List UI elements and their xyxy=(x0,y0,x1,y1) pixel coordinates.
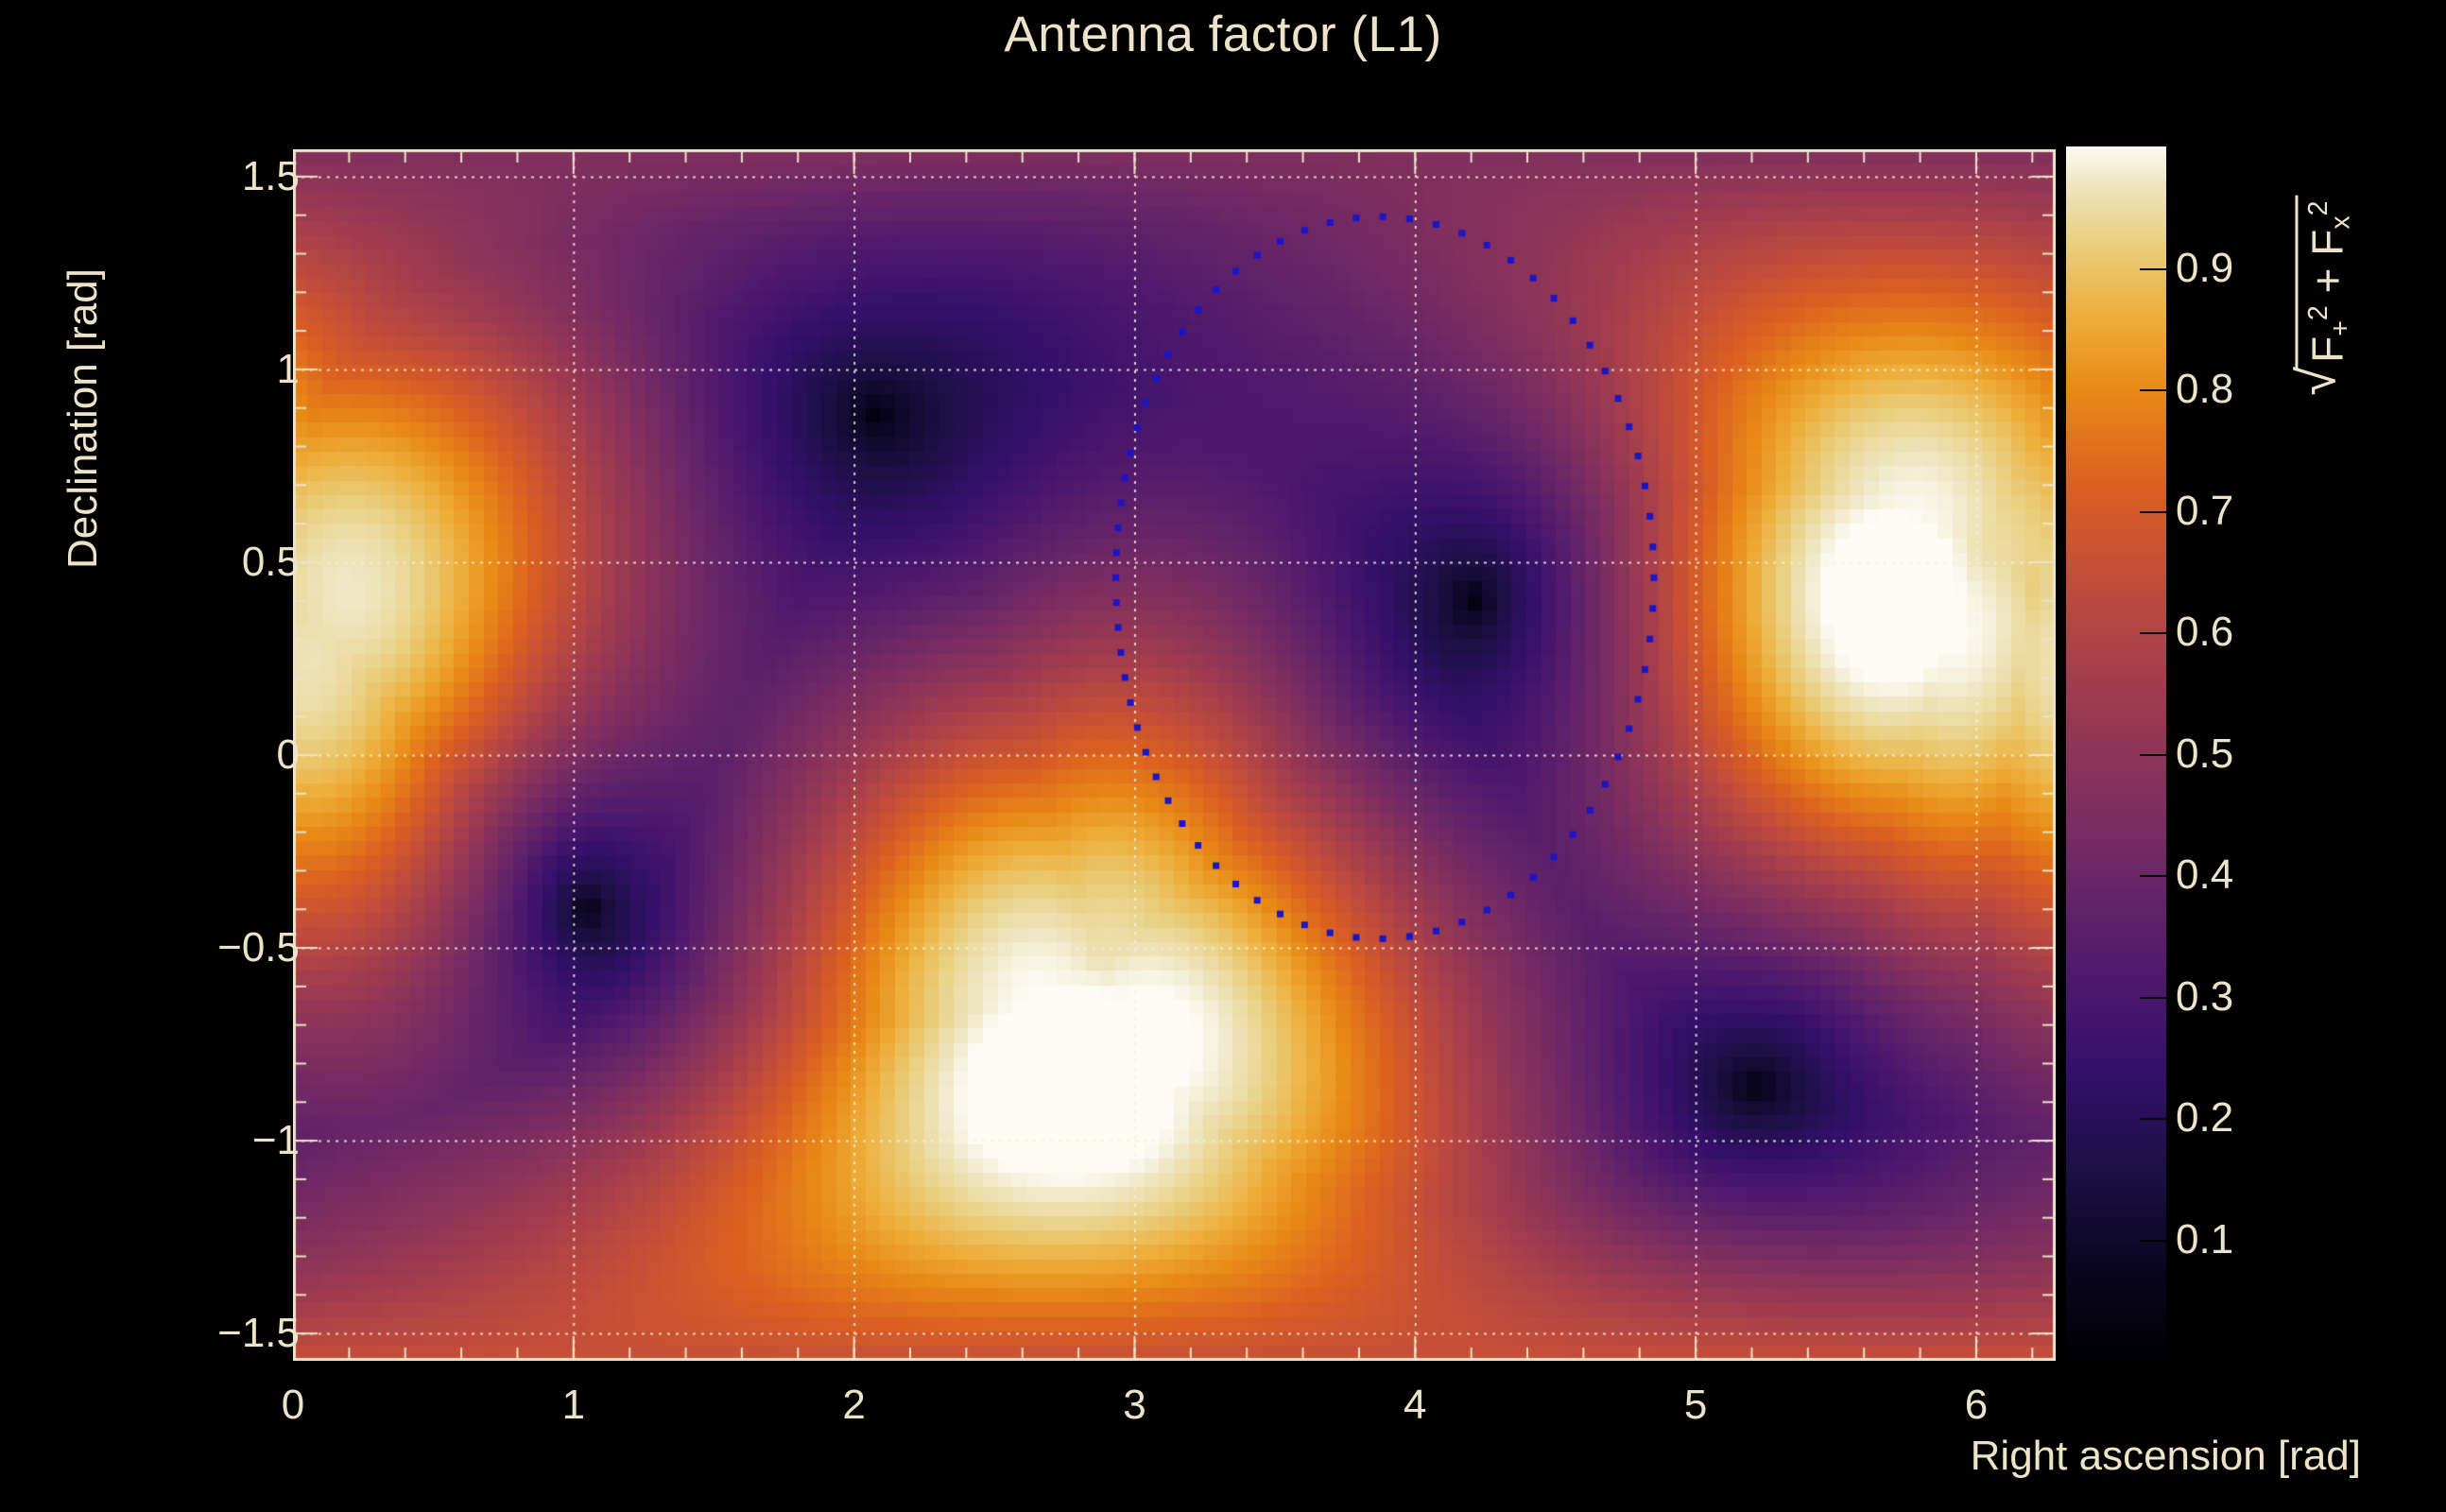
colorbar[interactable] xyxy=(2066,146,2166,1361)
zlabel-term1-sup: 2 xyxy=(2303,305,2334,320)
y-axis-title-label: Declination [rad] xyxy=(60,268,107,569)
page-title: Antenna factor (L1) xyxy=(0,6,2446,63)
colorbar-tick-label-5: 0.6 xyxy=(2176,609,2233,656)
colorbar-tick-label-0: 0.1 xyxy=(2176,1216,2233,1263)
x-axis-tick-3: 3 xyxy=(1123,1382,1145,1429)
y-axis-tick-2: 0.5 xyxy=(82,539,300,586)
y-axis-tick-1: 1 xyxy=(82,346,300,393)
zlabel-term2-sup: 2 xyxy=(2303,201,2334,216)
y-axis-tick-4: −0.5 xyxy=(82,924,300,971)
zlabel-term1-sub: + xyxy=(2326,320,2356,336)
colorbar-tick-label-4: 0.5 xyxy=(2176,730,2233,778)
x-axis-tick-0: 0 xyxy=(282,1382,304,1429)
zlabel-term2-sub: x xyxy=(2326,215,2356,229)
x-axis-tick-2: 2 xyxy=(842,1382,865,1429)
y-axis-tick-5: −1 xyxy=(82,1117,300,1164)
heatmap-plot-area[interactable] xyxy=(293,149,2056,1361)
y-axis-tick-3: 0 xyxy=(82,731,300,779)
colorbar-tick-label-7: 0.8 xyxy=(2176,366,2233,413)
sqrt-expression: √ F+2 + Fx2 xyxy=(2295,196,2356,396)
colorbar-gradient xyxy=(2066,146,2166,1361)
x-axis-tick-4: 4 xyxy=(1404,1382,1426,1429)
zlabel-operator: + xyxy=(2302,268,2351,294)
plot-root: Antenna factor (L1) Declination [rad] 1.… xyxy=(0,0,2446,1512)
colorbar-tick-label-3: 0.4 xyxy=(2176,851,2233,899)
x-axis-tick-6: 6 xyxy=(1965,1382,1988,1429)
heatmap-canvas xyxy=(293,149,2056,1361)
radical-icon: √ xyxy=(2295,367,2356,396)
colorbar-title: √ F+2 + Fx2 xyxy=(2268,142,2446,454)
colorbar-tick-label-2: 0.3 xyxy=(2176,973,2233,1021)
zlabel-term1-base: F xyxy=(2302,336,2351,363)
y-axis-tick-0: 1.5 xyxy=(82,153,300,200)
x-axis-tick-1: 1 xyxy=(562,1382,585,1429)
y-axis-tick-6: −1.5 xyxy=(82,1310,300,1357)
colorbar-tick-label-8: 0.9 xyxy=(2176,245,2233,292)
colorbar-tick-label-1: 0.2 xyxy=(2176,1094,2233,1142)
colorbar-tick-label-6: 0.7 xyxy=(2176,488,2233,535)
zlabel-term2-base: F xyxy=(2302,230,2351,256)
x-axis-tick-5: 5 xyxy=(1684,1382,1707,1429)
x-axis-title: Right ascension [rad] xyxy=(1971,1433,2361,1480)
